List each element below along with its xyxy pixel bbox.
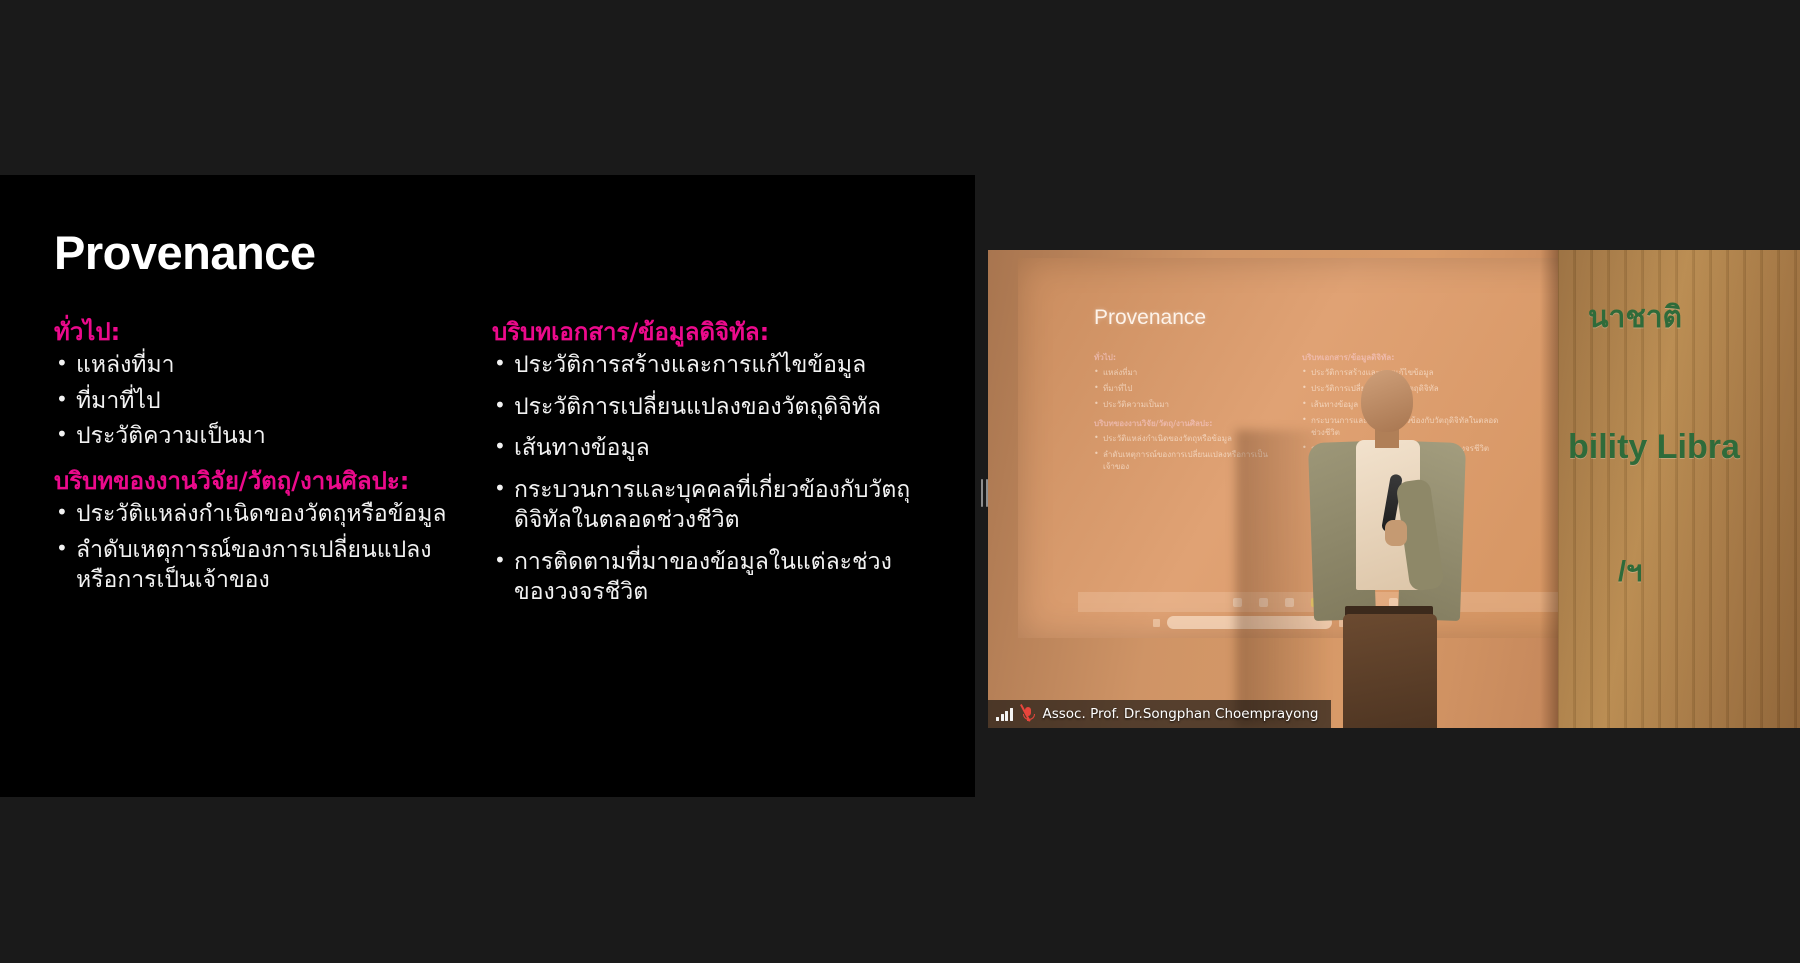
left-section-heading-general: ทั่วไป: [54,317,454,349]
list-item: การติดตามที่มาของข้อมูลในแต่ละช่วงของวงจ… [492,548,912,608]
projected-slide-title: Provenance [1094,306,1206,330]
signal-bars-icon [996,708,1013,721]
left-bullet-list-general: แหล่งที่มา ที่มาที่ไป ประวัติความเป็นมา [54,351,454,453]
list-item: ที่มาที่ไป [1094,383,1279,395]
list-item: ประวัติการสร้างและการแก้ไขข้อมูล [492,351,912,381]
speaker-figure [1283,370,1503,728]
projected-left-heading-general: ทั่วไป: [1094,352,1279,364]
left-section-heading-research-context: บริบทของงานวิจัย/วัตถุ/งานศิลปะ: [54,466,454,498]
resize-grip-bar [981,479,983,507]
screen-share-viewport: Provenance ทั่วไป: แหล่งที่มา ที่มาที่ไป… [0,0,1800,963]
projected-right-heading-digital: บริบทเอกสาร/ข้อมูลดิจิทัล: [1302,352,1502,364]
list-item: ประวัติความเป็นมา [1094,399,1279,411]
projected-left-list-general: แหล่งที่มา ที่มาที่ไป ประวัติความเป็นมา [1094,367,1279,411]
trousers [1343,614,1437,728]
list-item: ที่มาที่ไป [54,387,454,417]
list-item: เส้นทางข้อมูล [492,434,912,464]
list-item: ลำดับเหตุการณ์ของการเปลี่ยนแปลงหรือการเป… [54,536,454,596]
list-item: แหล่งที่มา [54,351,454,381]
head [1361,370,1413,432]
hand [1385,520,1407,546]
list-item: แหล่งที่มา [1094,367,1279,379]
projected-left-heading-research: บริบทของงานวิจัย/วัตถุ/งานศิลปะ: [1094,418,1279,430]
list-item: ประวัติการเปลี่ยนแปลงของวัตถุดิจิทัล [492,393,912,423]
wooden-wall-backdrop: นาชาติ bility Libra /ฯ [1558,250,1800,728]
start-menu-icon [1153,619,1160,627]
participant-name: Assoc. Prof. Dr.Songphan Choemprayong [1043,706,1319,722]
left-bullet-list-research: ประวัติแหล่งกำเนิดของวัตถุหรือข้อมูล ลำด… [54,500,454,596]
wall-signage-line-3: /ฯ [1618,548,1642,594]
presentation-slide: Provenance ทั่วไป: แหล่งที่มา ที่มาที่ไป… [0,175,975,797]
slide-right-column: บริบทเอกสาร/ข้อมูลดิจิทัล: ประวัติการสร้… [492,317,912,620]
slide-columns: ทั่วไป: แหล่งที่มา ที่มาที่ไป ประวัติควา… [0,317,975,797]
speaker-video-tile[interactable]: Provenance ทั่วไป: แหล่งที่มา ที่มาที่ไป… [988,250,1800,728]
microphone-muted-icon[interactable] [1021,706,1035,722]
participant-name-bar: Assoc. Prof. Dr.Songphan Choemprayong [988,700,1331,728]
list-item: ประวัติแหล่งกำเนิดของวัตถุหรือข้อมูล [54,500,454,530]
wall-signage-line-1: นาชาติ [1588,294,1682,341]
list-item: ประวัติความเป็นมา [54,422,454,452]
wall-signage-line-2: bility Libra [1568,428,1740,467]
right-bullet-list-digital: ประวัติการสร้างและการแก้ไขข้อมูล ประวัติ… [492,351,912,608]
list-item: กระบวนการและบุคคลที่เกี่ยวข้องกับวัตถุดิ… [492,476,912,536]
right-section-heading-digital-context: บริบทเอกสาร/ข้อมูลดิจิทัล: [492,317,912,349]
slide-left-column: ทั่วไป: แหล่งที่มา ที่มาที่ไป ประวัติควา… [54,317,454,602]
slide-title: Provenance [54,228,315,277]
